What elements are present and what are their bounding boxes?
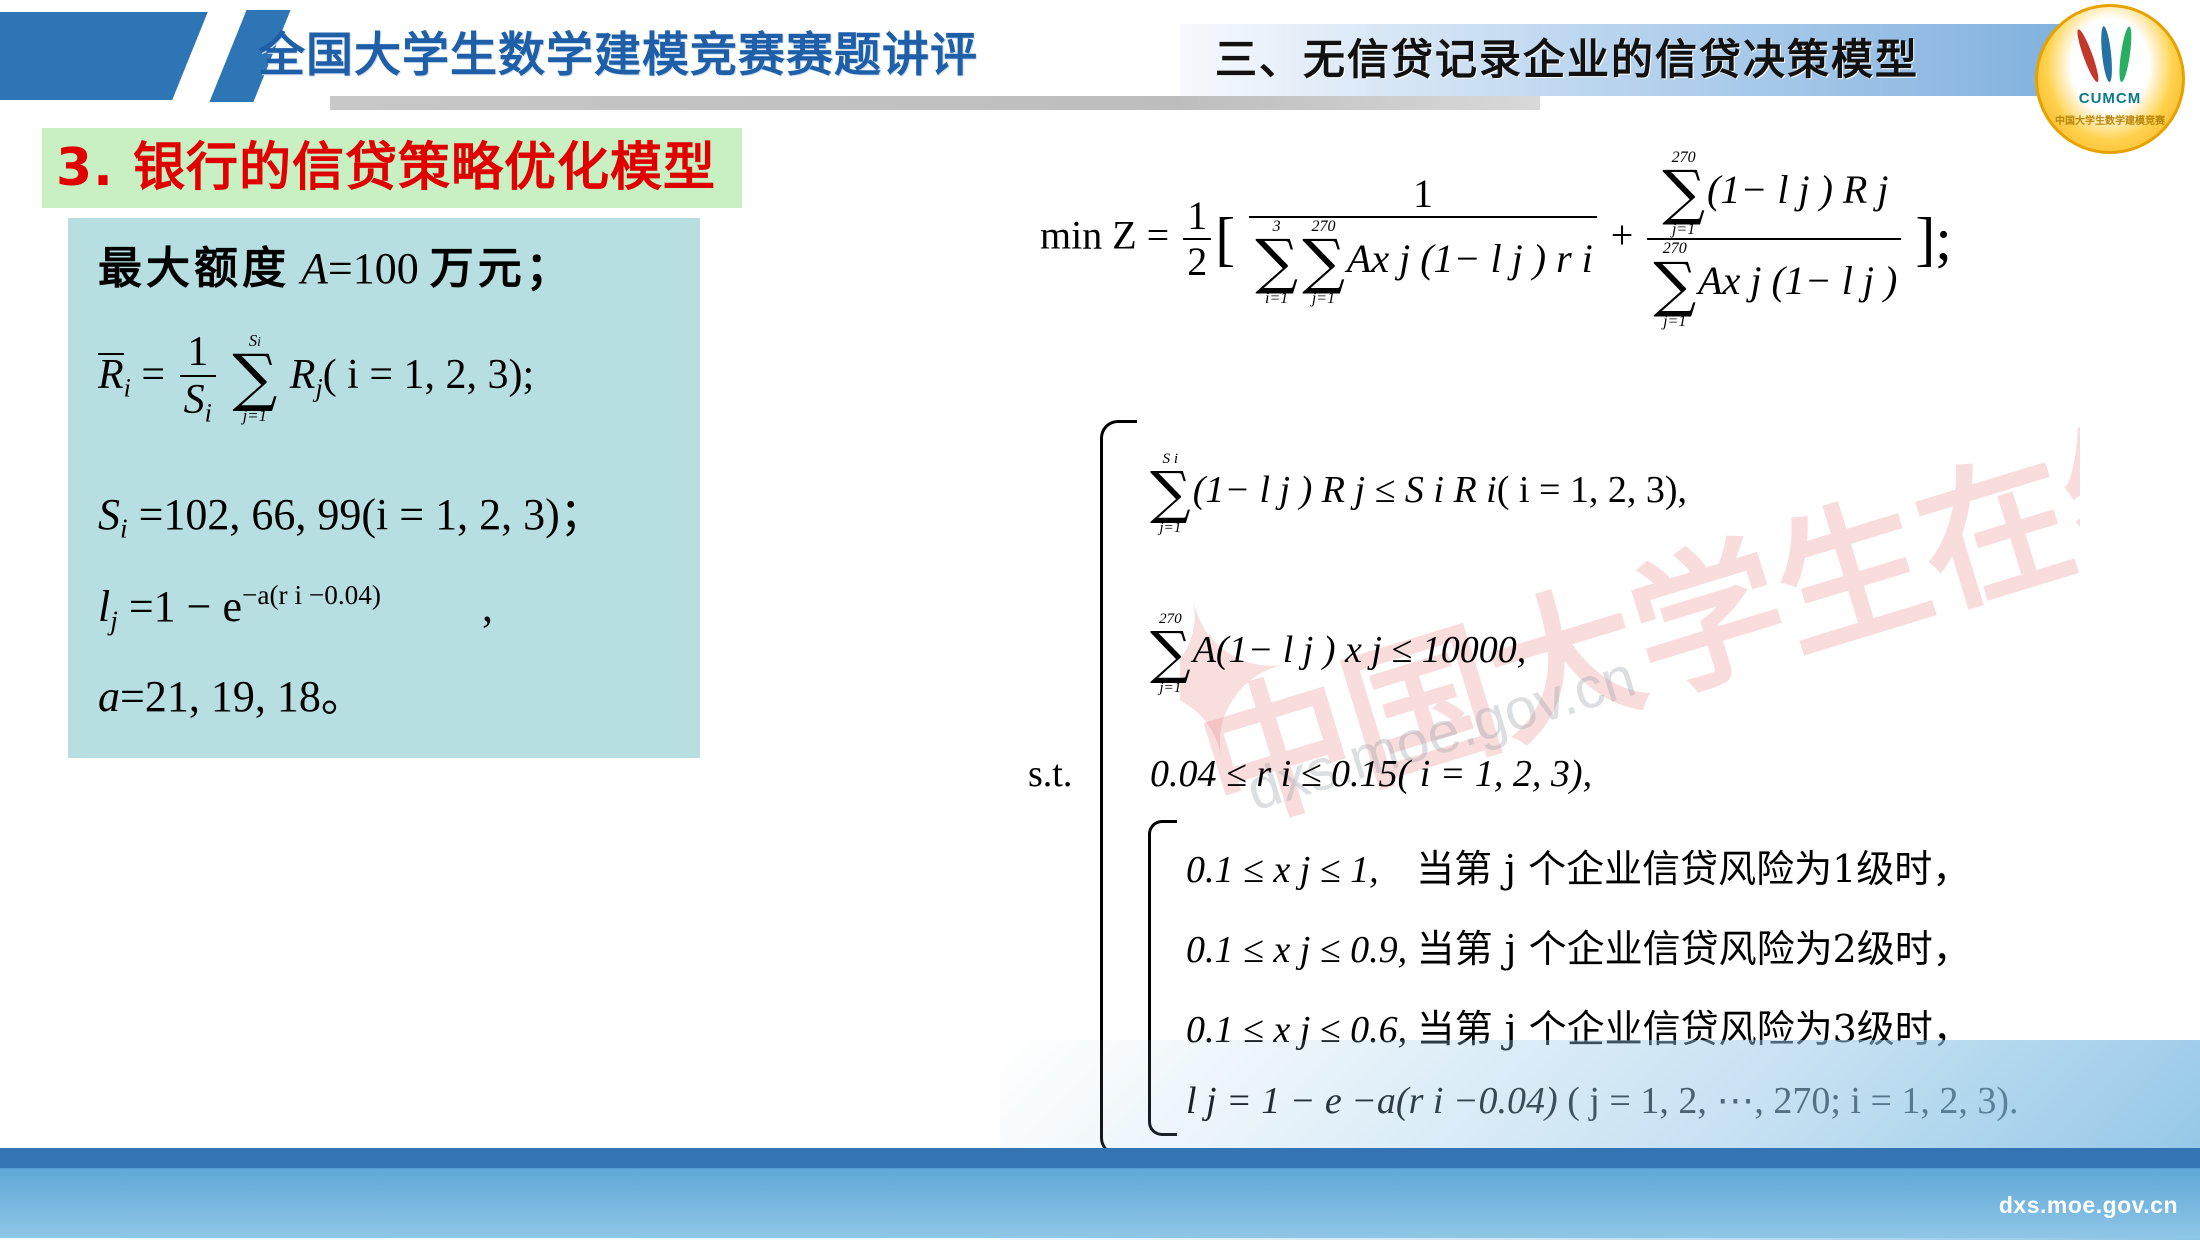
- rbar-lhs: R: [98, 353, 124, 395]
- rbar-body: R: [290, 352, 316, 398]
- lj-body: 1 − e: [154, 582, 242, 631]
- loss-rate-formula: lj =1 − e−a(r i −0.04) ,: [98, 580, 493, 637]
- mean-return-formula: Ri = 1 Si Si ∑ j=1 Rj( i = 1, 2, 3);: [98, 330, 534, 427]
- sigma-icon: ∑: [232, 348, 277, 408]
- header-right-title: 三、无信贷记录企业的信贷决策模型: [1215, 26, 2045, 94]
- objective-plus: +: [1611, 213, 1634, 258]
- term1-sum-j: 270 ∑ j=1: [1302, 219, 1345, 306]
- rbar-range: ( i = 1, 2, 3);: [323, 352, 535, 398]
- lj-exponent: −a(r i −0.04): [242, 580, 381, 610]
- max-credit-value: 100: [353, 244, 419, 293]
- si-equals: =: [139, 490, 164, 539]
- rbar-fraction: 1 Si: [180, 330, 216, 427]
- term2-num-sum: 270 ∑ j=1: [1662, 150, 1705, 237]
- sample-size-formula: Si =102, 66, 99(i = 1, 2, 3)；: [98, 478, 604, 545]
- footer-blue-band: [0, 1148, 2200, 1168]
- si-lhs: S: [98, 490, 120, 539]
- constraint-x-level-2: 0.1 ≤ x j ≤ 0.9, 当第 j 个企业信贷风险为2级时，: [1186, 918, 1971, 973]
- c3-text: 0.04 ≤ r i ≤ 0.15( i = 1, 2, 3),: [1150, 753, 1592, 795]
- a-lhs: a: [98, 672, 120, 721]
- cumcm-logo: CUMCM 中国大学生数学建模竞赛: [2035, 4, 2185, 154]
- rbar-frac-denominator: Si: [180, 377, 216, 427]
- max-credit-line: 最大额度 A=100 万元；: [98, 232, 574, 296]
- slide-header: 全国大学生数学建模竞赛赛题讲评 三、无信贷记录企业的信贷决策模型: [0, 0, 2200, 118]
- sigma-icon: ∑: [1150, 626, 1191, 680]
- term1-numerator: 1: [1249, 173, 1597, 218]
- objective-term1: 1 3 ∑ i=1 270 ∑ j=1 Ax j (1− l j ) r i: [1249, 173, 1597, 306]
- rbar-frac-den-sub: i: [205, 398, 212, 427]
- rbar-equals: =: [141, 352, 165, 398]
- term1-den-body: Ax j (1− l j ) r i: [1347, 236, 1593, 281]
- constraint-rate-bound: 0.04 ≤ r i ≤ 0.15( i = 1, 2, 3),: [1150, 752, 1592, 796]
- term2-num-body: (1− l j ) R j: [1707, 167, 1888, 212]
- logo-acronym: CUMCM: [2035, 90, 2185, 107]
- sigma-icon: ∑: [1255, 234, 1298, 291]
- objective-half-den: 2: [1183, 240, 1211, 283]
- rbar-frac-den-sym: S: [184, 377, 205, 423]
- term2-numerator: 270 ∑ j=1 (1− l j ) R j: [1647, 150, 1901, 240]
- c4-text: 0.1 ≤ x j ≤ 1,: [1186, 849, 1379, 891]
- lj-lhs: l: [98, 582, 110, 631]
- objective-open-bracket: [: [1215, 206, 1235, 272]
- si-range: (i = 1, 2, 3): [361, 490, 559, 539]
- a-values: 21, 19, 18: [145, 672, 321, 721]
- c1-body: (1− l j ) R j ≤ S i R i: [1193, 469, 1497, 511]
- c5-note: 当第 j 个企业信贷风险为2级时，: [1417, 927, 1971, 971]
- si-lhs-sub: i: [120, 514, 128, 544]
- max-credit-variable: A: [301, 244, 328, 293]
- section-title: 3. 银行的信贷策略优化模型: [56, 132, 736, 204]
- max-credit-unit: 万元；: [430, 243, 574, 294]
- constraint-risk-return: S i ∑ j=1 (1− l j ) R j ≤ S i R i( i = 1…: [1148, 452, 1687, 535]
- c1-sum: S i ∑ j=1: [1150, 452, 1191, 535]
- objective-term2: 270 ∑ j=1 (1− l j ) R j 270 ∑ j=1 Ax j (…: [1647, 150, 1901, 329]
- sigma-icon: ∑: [1653, 257, 1696, 314]
- footer-url: dxs.moe.gov.cn: [1999, 1192, 2178, 1219]
- objective-equals: =: [1147, 213, 1170, 258]
- objective-half-num: 1: [1183, 195, 1211, 240]
- constraint-total-credit: 270 ∑ j=1 A(1− l j ) x j ≤ 10000,: [1148, 612, 1526, 695]
- objective-close-bracket: ];: [1915, 206, 1952, 272]
- term2-denominator: 270 ∑ j=1 Ax j (1− l j ): [1647, 240, 1901, 328]
- a-parameter-line: a=21, 19, 18。: [98, 660, 365, 724]
- a-tail: 。: [321, 671, 365, 722]
- si-tail: ；: [560, 489, 604, 540]
- lj-tail: ,: [482, 582, 493, 631]
- header-left-title: 全国大学生数学建模竞赛赛题讲评: [258, 20, 1018, 92]
- c5-text: 0.1 ≤ x j ≤ 0.9,: [1186, 929, 1407, 971]
- rbar-body-sub: j: [315, 373, 322, 402]
- term2-den-body: Ax j (1− l j ): [1698, 258, 1897, 303]
- term1-sum-i: 3 ∑ i=1: [1255, 219, 1298, 306]
- sigma-icon: ∑: [1662, 165, 1705, 222]
- max-credit-label: 最大额度: [98, 243, 290, 294]
- objective-function: min Z = 1 2 [ 1 3 ∑ i=1 270 ∑ j=1 Ax j (…: [1040, 150, 1952, 329]
- c4-note: 当第 j 个企业信贷风险为1级时，: [1416, 847, 1970, 891]
- sigma-icon: ∑: [1302, 234, 1345, 291]
- term2-den-sum: 270 ∑ j=1: [1653, 241, 1696, 328]
- rbar-summation: Si ∑ j=1: [232, 333, 277, 425]
- rbar-frac-numerator: 1: [180, 330, 216, 377]
- constraint-x-level-1: 0.1 ≤ x j ≤ 1, 当第 j 个企业信贷风险为1级时，: [1186, 838, 1970, 893]
- rbar-lhs-sub: i: [124, 373, 131, 402]
- sigma-icon: ∑: [1150, 466, 1191, 520]
- logo-chinese-name: 中国大学生数学建模竞赛: [2035, 112, 2185, 127]
- c1-range: ( i = 1, 2, 3),: [1497, 469, 1687, 511]
- a-equals: =: [120, 672, 145, 721]
- c2-body: A(1− l j ) x j ≤ 10000,: [1193, 629, 1527, 671]
- max-credit-equals: =: [328, 244, 353, 293]
- si-values: 102, 66, 99: [163, 490, 361, 539]
- objective-label: min Z: [1040, 213, 1137, 258]
- term1-denominator: 3 ∑ i=1 270 ∑ j=1 Ax j (1− l j ) r i: [1249, 218, 1597, 306]
- subject-to-label: s.t.: [1028, 752, 1072, 796]
- lj-equals: =: [129, 582, 154, 631]
- lj-lhs-sub: j: [110, 606, 118, 636]
- c2-sum: 270 ∑ j=1: [1150, 612, 1191, 695]
- header-gray-rule: [330, 96, 1540, 110]
- objective-half-fraction: 1 2: [1183, 195, 1211, 283]
